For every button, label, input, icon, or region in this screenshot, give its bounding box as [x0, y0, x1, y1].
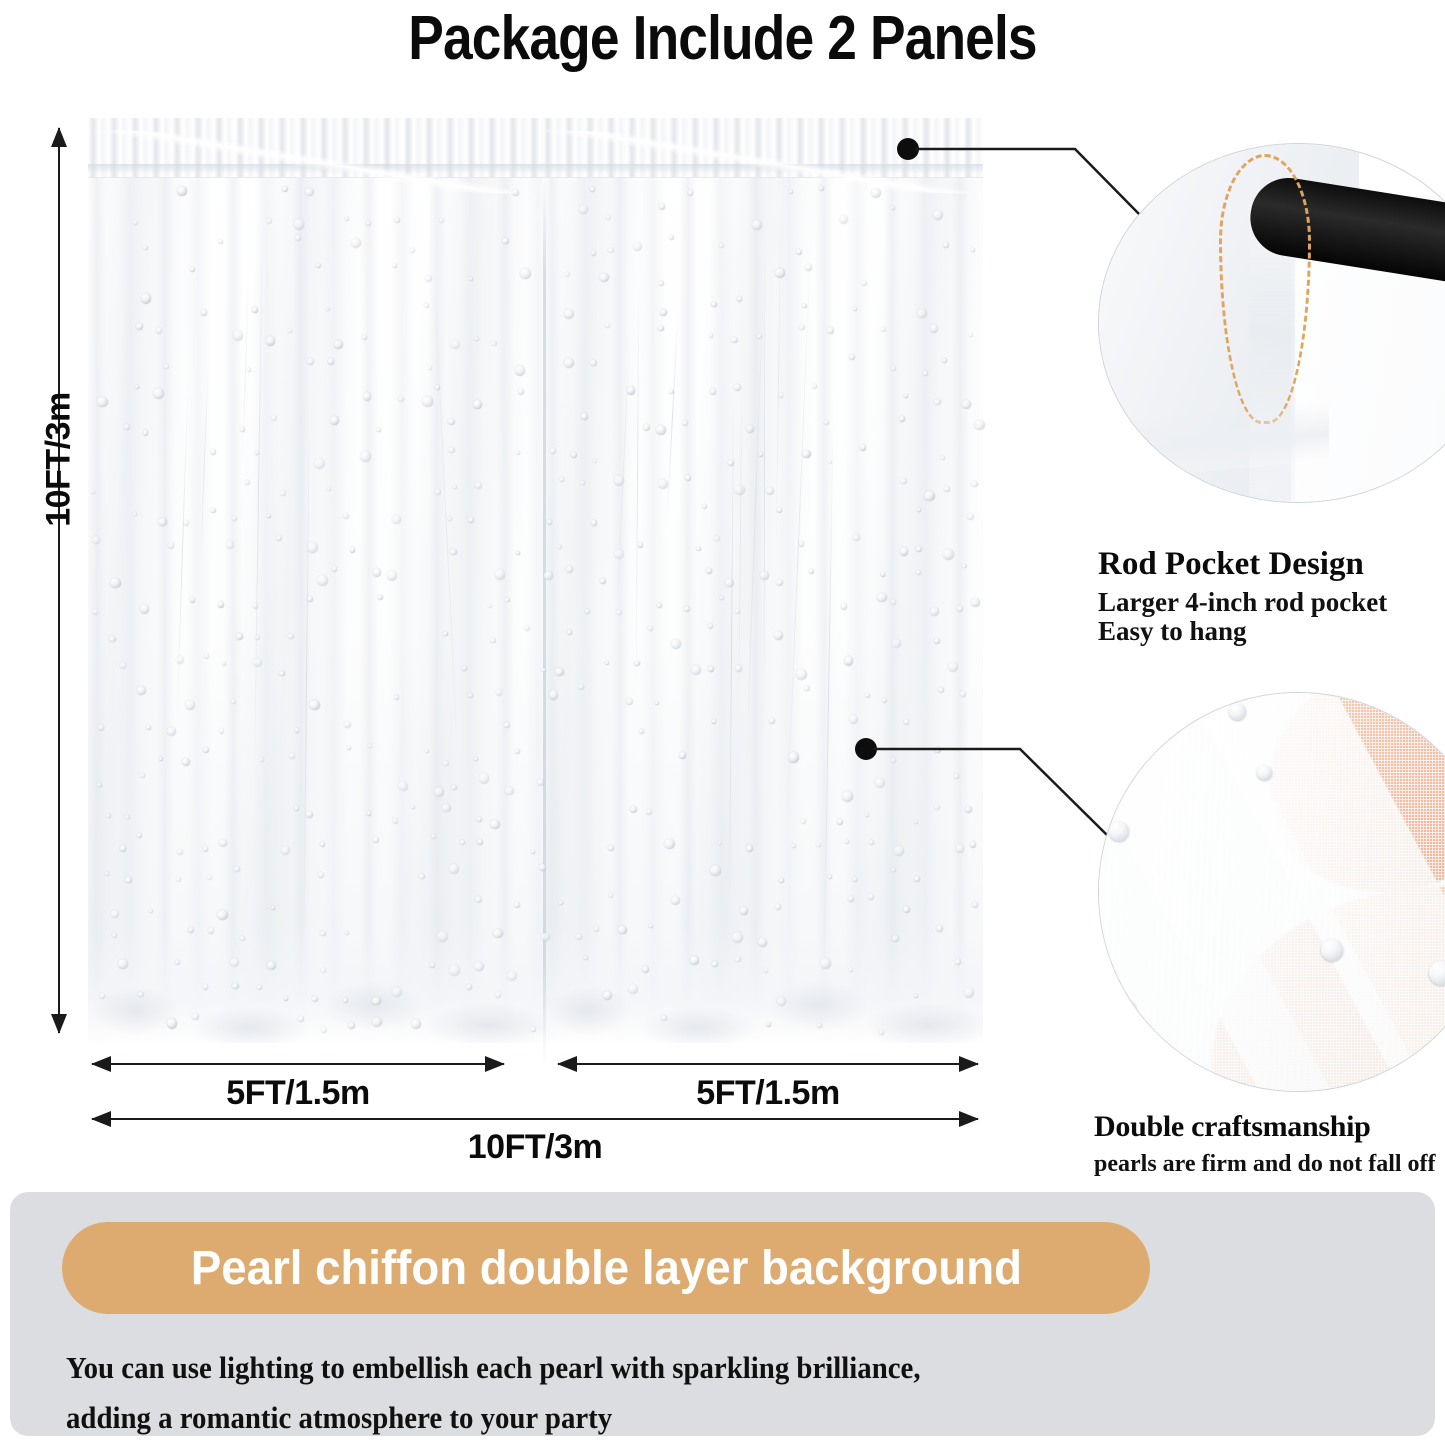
feature-subtext-rod-pocket: Larger 4-inch rod pocket Easy to hang	[1098, 588, 1387, 646]
feature-subtext-line: Larger 4-inch rod pocket	[1098, 588, 1387, 617]
pearl	[1257, 765, 1272, 780]
pearl	[1117, 999, 1136, 1018]
feature-title-rod-pocket: Rod Pocket Design	[1098, 546, 1364, 583]
pearl-fabric-closeup-icon	[1098, 692, 1445, 1092]
footer-line: adding a romantic atmosphere to your par…	[66, 1393, 1294, 1442]
pearl	[1321, 939, 1343, 961]
feature-title-craftsmanship: Double craftsmanship	[1094, 1110, 1371, 1144]
feature-subtext-craftsmanship: pearls are firm and do not fall off	[1094, 1150, 1436, 1179]
product-infographic: Package Include 2 Panels 10FT/3m 5FT/	[0, 0, 1445, 1442]
pearl	[1229, 703, 1246, 720]
pearl	[1109, 821, 1129, 841]
rod-pocket-closeup-icon	[1098, 143, 1445, 503]
highlight-banner: Pearl chiffon double layer background	[62, 1222, 1150, 1314]
footer-line: You can use lighting to embellish each p…	[66, 1343, 1294, 1393]
feature-subtext-line: Easy to hang	[1098, 617, 1387, 646]
highlight-banner-text: Pearl chiffon double layer background	[190, 1241, 1021, 1296]
footer-description: You can use lighting to embellish each p…	[66, 1343, 1294, 1442]
feature-subtext-line: pearls are firm and do not fall off	[1094, 1150, 1436, 1179]
